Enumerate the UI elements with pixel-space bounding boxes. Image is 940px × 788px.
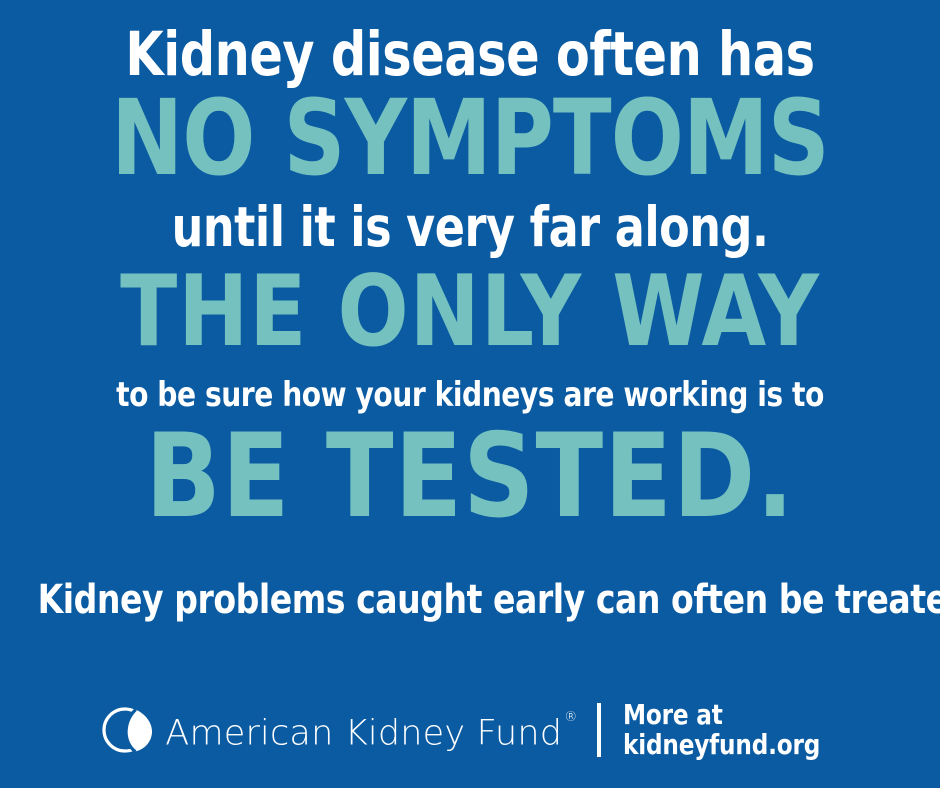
headline-line-3: until it is very far along.: [47, 196, 893, 258]
american-kidney-fund-circle-icon: [102, 705, 152, 755]
headline-line-4-the-only-way: THE ONLY WAY: [24, 262, 917, 362]
message-block: Kidney disease often has NO SYMPTOMS unt…: [0, 0, 940, 672]
poster-canvas: Kidney disease often has NO SYMPTOMS unt…: [0, 0, 940, 788]
footer-bar: American Kidney Fund® More at kidneyfund…: [0, 672, 940, 788]
organization-name: American Kidney Fund: [165, 713, 562, 753]
headline-line-2-no-symptoms: NO SYMPTOMS: [38, 86, 903, 190]
headline-line-6-be-tested: BE TESTED.: [24, 418, 917, 536]
tagline: Kidney problems caught early can often b…: [38, 576, 903, 624]
cta-website-url[interactable]: kidneyfund.org: [623, 730, 820, 760]
footer-content: American Kidney Fund® More at kidneyfund…: [102, 700, 837, 760]
registered-trademark-icon: ®: [564, 710, 577, 725]
organization-wordmark: American Kidney Fund®: [165, 709, 575, 754]
cta-more-at[interactable]: More at kidneyfund.org: [623, 700, 820, 760]
footer-divider: [597, 703, 601, 757]
cta-line-1: More at: [623, 700, 820, 730]
